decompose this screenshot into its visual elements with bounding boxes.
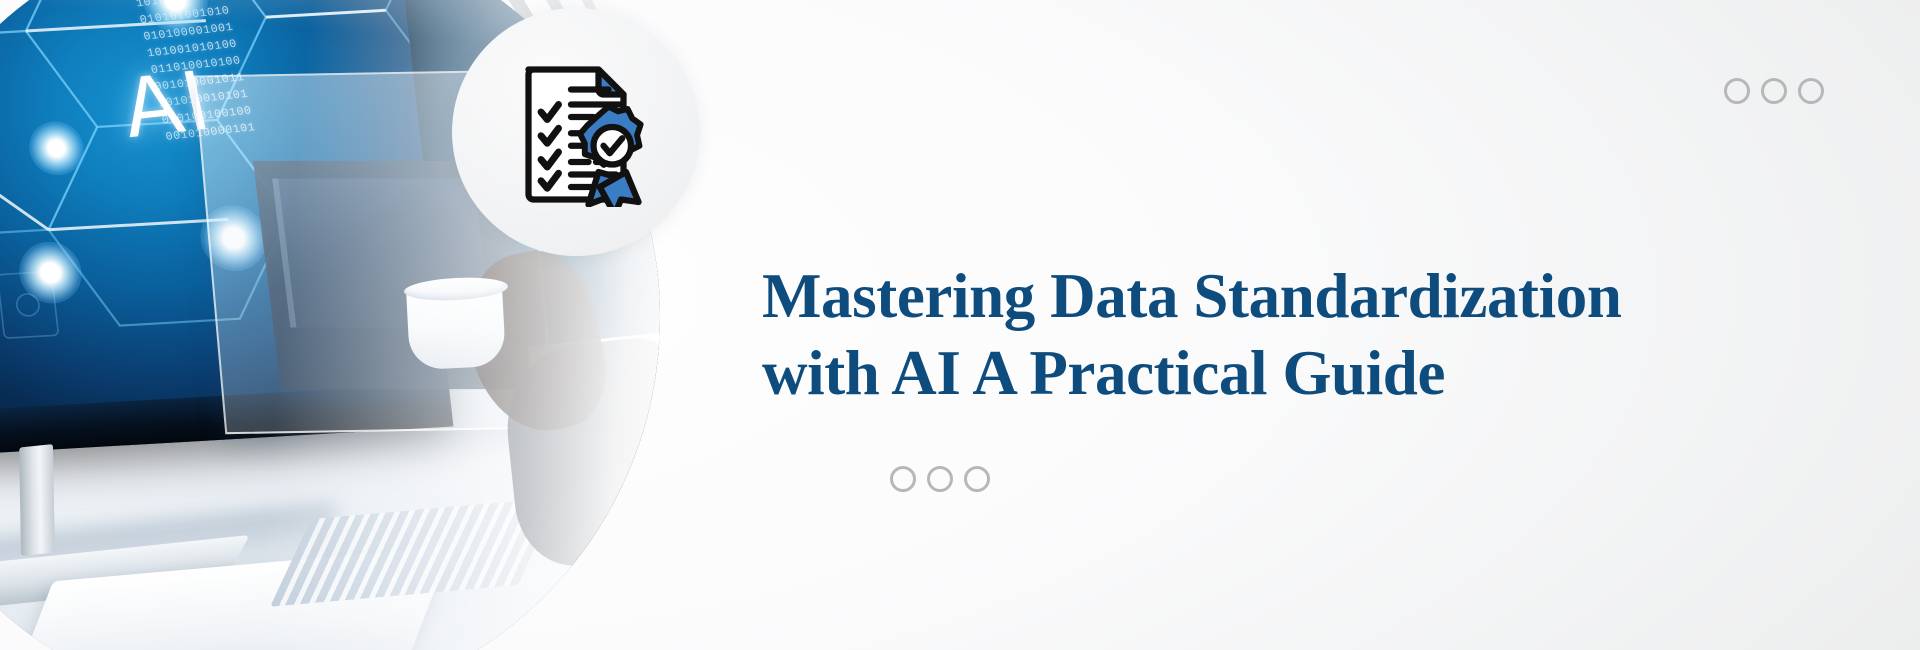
- decor-dot-3: [1798, 78, 1824, 104]
- decor-dot-2: [1761, 78, 1787, 104]
- certificate-checklist-icon: [501, 57, 651, 207]
- decor-dots-bottom: [890, 466, 990, 492]
- certificate-badge: [452, 8, 700, 256]
- page-title: Mastering Data Standardization with AI A…: [762, 258, 1832, 412]
- decor-dots-top-right: [1724, 78, 1824, 104]
- monitor-stand-neck: [19, 444, 55, 556]
- headline-line-1: Mastering Data Standardization: [762, 258, 1832, 335]
- decor-dot-4: [890, 466, 916, 492]
- headline-line-2: with AI A Practical Guide: [762, 335, 1832, 412]
- decor-dot-6: [964, 466, 990, 492]
- decor-dot-1: [1724, 78, 1750, 104]
- article-banner: 0010010101110100 0010010010001 01 001101…: [0, 0, 1920, 650]
- decor-dot-5: [927, 466, 953, 492]
